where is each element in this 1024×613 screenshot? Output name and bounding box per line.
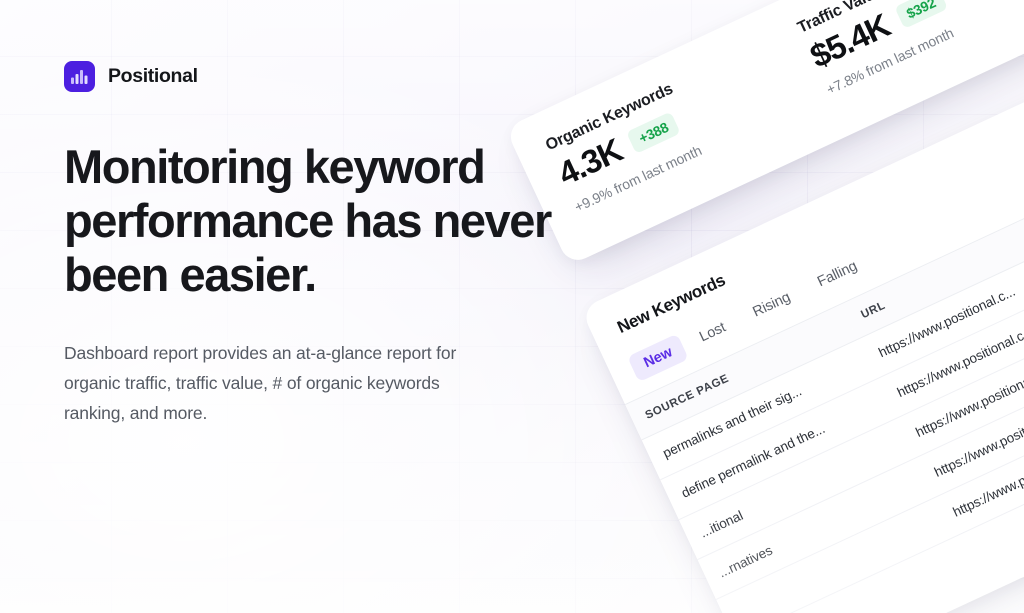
hero-text-column: Positional Monitoring keyword performanc… <box>64 59 624 428</box>
brand-name: Positional <box>108 65 198 88</box>
tab-new[interactable]: New <box>627 333 689 382</box>
bar-chart-icon <box>64 61 95 92</box>
tab-lost[interactable]: Lost <box>683 308 743 356</box>
stat-traffic-value: Traffic Value $5.4K $392 +7.8% from last… <box>795 0 1024 112</box>
page-title: Monitoring keyword performance has never… <box>64 140 624 302</box>
brand-logo[interactable]: Positional <box>64 59 624 93</box>
status-badge: +388 <box>627 112 681 154</box>
hero-subtitle: Dashboard report provides an at-a-glance… <box>64 338 484 428</box>
page-root: Positional Monitoring keyword performanc… <box>0 0 1024 613</box>
status-badge: $392 <box>894 0 948 29</box>
tab-rising[interactable]: Rising <box>736 278 807 331</box>
